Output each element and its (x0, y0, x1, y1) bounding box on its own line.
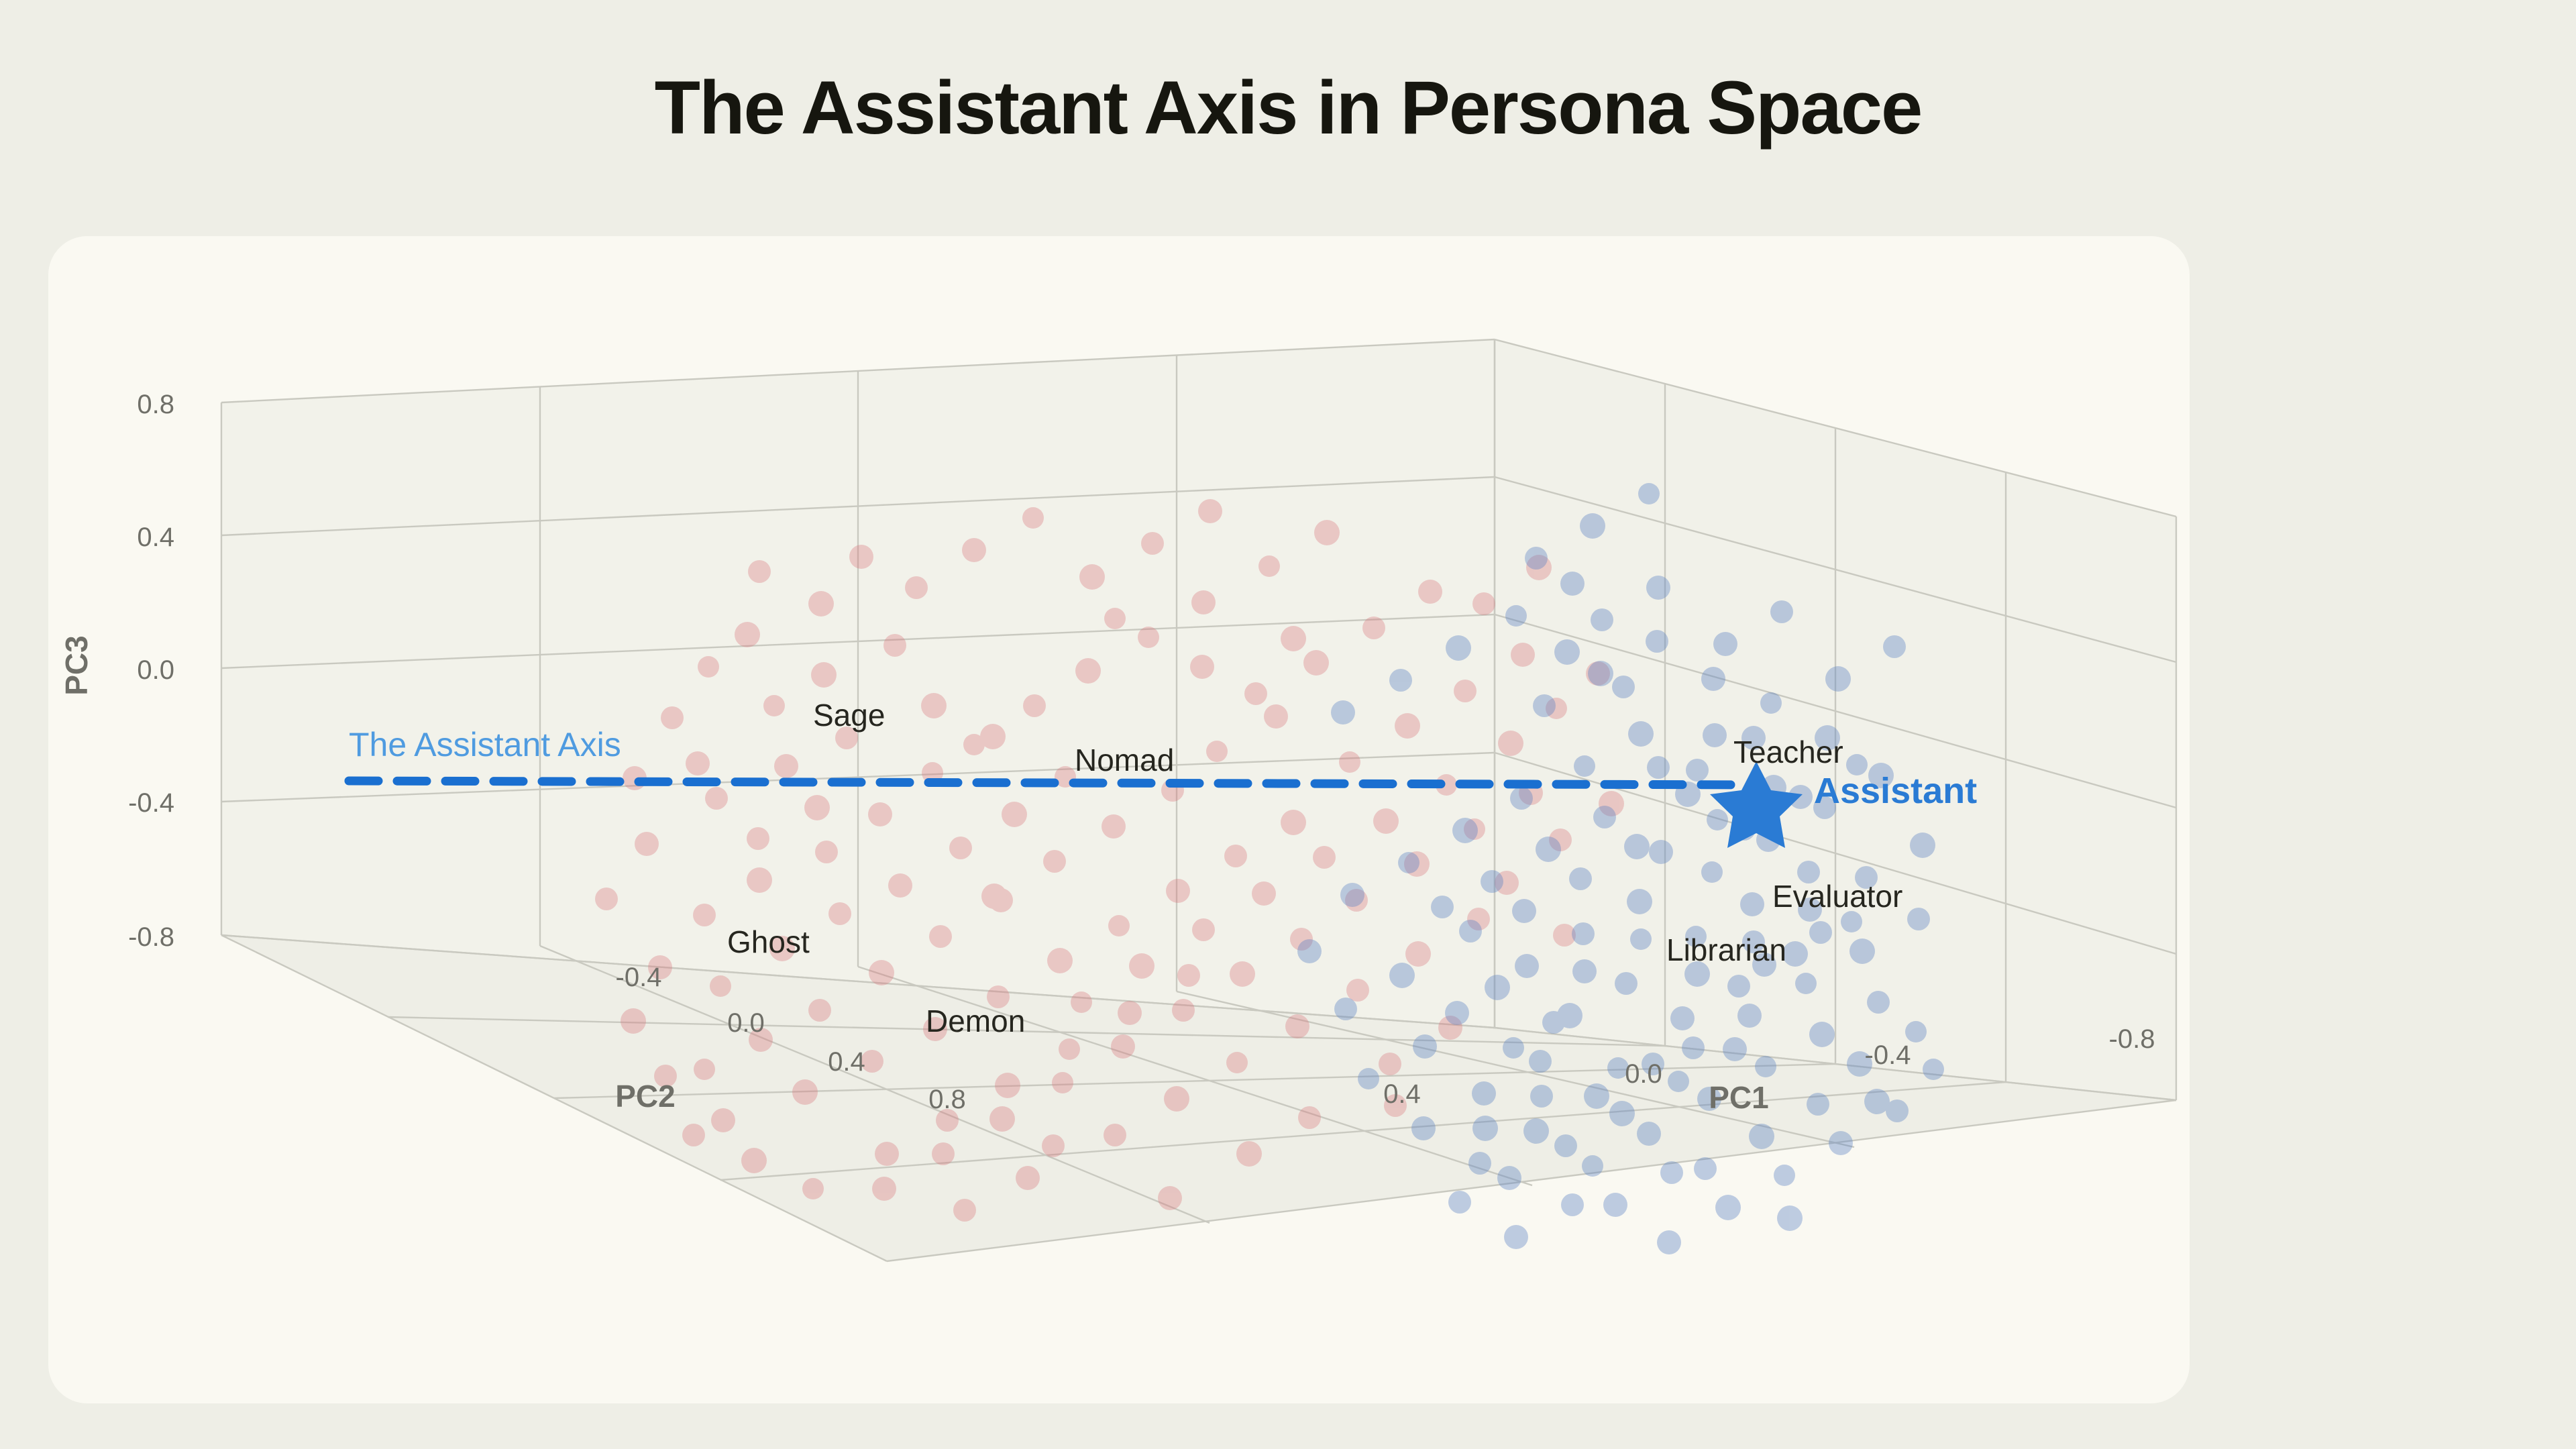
data-point (774, 754, 798, 778)
data-point (1079, 564, 1105, 590)
data-point (1536, 837, 1561, 862)
data-point (1525, 547, 1548, 570)
data-point (929, 925, 952, 948)
data-point (815, 841, 838, 863)
data-point (1512, 899, 1536, 923)
data-point (1749, 1124, 1774, 1149)
data-point (1905, 1021, 1927, 1042)
data-point (1737, 1004, 1762, 1028)
data-point (1630, 928, 1652, 950)
persona-label-nomad: Nomad (1075, 743, 1174, 777)
data-point (1264, 704, 1288, 729)
data-point (989, 1106, 1015, 1132)
data-point (1646, 630, 1668, 653)
data-point (1047, 948, 1073, 973)
data-point (1448, 1191, 1471, 1214)
data-point (1379, 1053, 1401, 1075)
data-point (1172, 999, 1195, 1022)
data-point (1770, 600, 1793, 623)
data-point (1670, 1006, 1695, 1030)
data-point (808, 999, 831, 1022)
data-point (1572, 922, 1595, 945)
pc2-tick-2: 0.4 (828, 1047, 865, 1077)
data-point (1554, 1134, 1577, 1157)
data-point (1615, 972, 1638, 995)
pc3-tick-4: -0.8 (128, 922, 174, 952)
data-point (1638, 483, 1660, 504)
data-point (686, 751, 710, 775)
pc1-axis-title: PC1 (1709, 1080, 1768, 1115)
data-point (1777, 1205, 1803, 1231)
data-point (1230, 961, 1255, 987)
data-point (1603, 1193, 1627, 1217)
pc1-tick-3: -0.8 (2109, 1024, 2155, 1054)
data-point (1849, 938, 1875, 964)
data-point (1141, 532, 1164, 555)
data-point (1740, 892, 1764, 916)
data-point (1825, 666, 1851, 692)
data-point (1715, 1195, 1741, 1220)
data-point (1191, 590, 1216, 614)
data-point (1569, 867, 1592, 890)
data-point (1504, 1225, 1528, 1249)
data-point (1303, 650, 1329, 676)
data-point (1446, 635, 1471, 661)
data-point (1809, 1022, 1835, 1047)
data-point (1413, 1034, 1437, 1059)
data-point (1104, 1124, 1126, 1146)
data-point (1795, 973, 1817, 994)
data-point (1431, 896, 1454, 918)
data-point (1657, 1230, 1681, 1254)
data-point (1627, 889, 1652, 914)
data-point (1588, 661, 1613, 686)
data-point (921, 693, 947, 718)
data-point (1158, 1186, 1182, 1210)
data-point (698, 656, 719, 678)
data-point (808, 591, 834, 616)
data-point (1760, 692, 1782, 714)
data-point (1472, 592, 1495, 615)
data-point (1703, 723, 1727, 747)
data-point (868, 802, 892, 826)
persona-label-librarian: Librarian (1666, 932, 1786, 967)
data-point (875, 1142, 899, 1166)
data-point (1043, 850, 1066, 873)
data-point (1807, 1093, 1829, 1116)
data-point (1923, 1059, 1944, 1080)
data-point (1102, 814, 1126, 839)
pc3-tick-0: 0.8 (137, 390, 174, 419)
data-point (747, 827, 769, 850)
data-point (1281, 810, 1306, 835)
data-point (1530, 1085, 1553, 1108)
data-point (1481, 870, 1503, 893)
data-point (1395, 713, 1420, 739)
data-point (1285, 1014, 1309, 1038)
data-point (1108, 915, 1130, 936)
persona-label-sage: Sage (813, 698, 885, 733)
data-point (1809, 921, 1832, 944)
data-point (1609, 1101, 1635, 1126)
data-point (705, 787, 728, 810)
data-point (595, 888, 618, 910)
data-point (1138, 627, 1159, 648)
data-point (1472, 1081, 1496, 1106)
data-point (1646, 576, 1670, 600)
data-point (1668, 1071, 1689, 1092)
data-point (1164, 1086, 1189, 1112)
data-point (1071, 991, 1092, 1013)
data-point (888, 873, 912, 898)
data-point (1298, 1106, 1321, 1129)
data-point (1707, 809, 1728, 830)
data-point (1612, 676, 1635, 698)
data-point (693, 904, 716, 926)
data-point (1533, 694, 1556, 717)
data-point (1398, 852, 1419, 873)
data-point (1111, 1034, 1135, 1059)
data-point (804, 795, 830, 820)
data-point (1907, 908, 1930, 930)
persona-label-teacher: Teacher (1733, 735, 1843, 769)
data-point (981, 883, 1007, 909)
data-point (869, 960, 894, 985)
data-point (1023, 694, 1046, 717)
data-point (1226, 1052, 1248, 1073)
data-point (1511, 643, 1535, 667)
pc3-axis-title: PC3 (59, 635, 94, 695)
data-point (1445, 1001, 1469, 1025)
data-point (1340, 883, 1364, 907)
data-point (980, 724, 1006, 749)
data-point (872, 1177, 896, 1201)
data-point (995, 1073, 1020, 1098)
data-point (1580, 513, 1605, 539)
data-point (1727, 975, 1750, 998)
data-point (1682, 1036, 1705, 1059)
persona-label-ghost: Ghost (727, 924, 810, 959)
data-point (1059, 1038, 1080, 1060)
data-point (1497, 1166, 1521, 1190)
data-point (1572, 959, 1597, 983)
data-point (1206, 741, 1228, 762)
data-point (1339, 751, 1360, 773)
data-point (802, 1178, 824, 1199)
data-point (661, 706, 684, 729)
pc2-tick-1: 0.0 (727, 1008, 765, 1038)
data-point (1452, 818, 1478, 843)
data-point (1867, 991, 1890, 1014)
data-point (1002, 802, 1027, 827)
data-point (1774, 1165, 1795, 1186)
pc2-tick-3: 0.8 (928, 1085, 966, 1114)
data-point (1649, 840, 1673, 864)
data-point (1454, 680, 1477, 702)
data-point (1510, 787, 1533, 810)
data-point (1554, 639, 1580, 665)
pc3-tick-1: 0.4 (137, 523, 174, 552)
data-point (1334, 998, 1357, 1020)
data-point (1584, 1083, 1609, 1109)
data-point (1591, 608, 1613, 631)
pc2-axis-title: PC2 (615, 1079, 675, 1114)
data-point (747, 867, 772, 893)
data-point (1660, 1161, 1683, 1184)
data-point (1637, 1122, 1661, 1146)
data-point (1313, 846, 1336, 869)
data-point (1529, 1050, 1552, 1073)
data-point (1224, 845, 1247, 867)
data-point (1252, 881, 1276, 906)
data-point (1281, 626, 1306, 651)
data-point (1052, 1072, 1073, 1093)
data-point (1910, 833, 1935, 858)
data-point (1314, 520, 1340, 545)
data-point (711, 1108, 735, 1132)
data-point (1411, 1116, 1436, 1140)
data-point (1331, 700, 1355, 724)
data-point (1192, 918, 1215, 941)
data-point (1190, 655, 1214, 679)
data-point (1503, 1037, 1524, 1059)
persona-label-evaluator: Evaluator (1772, 879, 1902, 914)
pc3-tick-3: -0.4 (128, 788, 174, 818)
data-point (1166, 879, 1190, 903)
data-point (1593, 806, 1616, 828)
data-point (1523, 1118, 1549, 1144)
data-point (1694, 1157, 1717, 1180)
data-point (1515, 954, 1539, 978)
data-point (1405, 941, 1431, 967)
data-point (735, 622, 760, 647)
data-point (1841, 911, 1862, 932)
data-point (1560, 572, 1585, 596)
data-point (1628, 721, 1654, 747)
data-point (635, 832, 659, 856)
data-point (1244, 682, 1267, 705)
data-point (1129, 953, 1155, 979)
data-point (1883, 635, 1906, 658)
scatter-plot-3d[interactable]: The Assistant Axis Assistant Sage Nomad … (48, 236, 2190, 1403)
data-point (1104, 608, 1126, 629)
data-point (828, 902, 851, 925)
data-point (953, 1199, 976, 1222)
chart-card: The Assistant Axis Assistant Sage Nomad … (48, 236, 2190, 1403)
data-point (932, 1142, 955, 1165)
pc2-tick-0: -0.4 (616, 963, 662, 992)
data-point (1198, 499, 1222, 523)
data-point (1505, 605, 1527, 627)
data-point (1358, 1068, 1379, 1089)
data-point (1561, 1193, 1584, 1216)
data-point (1755, 1056, 1776, 1077)
data-point (1373, 808, 1399, 834)
pc1-tick-0: 0.4 (1383, 1079, 1421, 1109)
data-point (682, 1124, 705, 1146)
data-point (1075, 658, 1101, 684)
data-point (763, 695, 785, 716)
data-point (1582, 1155, 1603, 1177)
data-point (621, 1008, 646, 1034)
data-point (741, 1148, 767, 1173)
data-point (1418, 580, 1442, 604)
data-point (1118, 1001, 1142, 1025)
data-point (1574, 755, 1595, 777)
data-point (962, 538, 986, 562)
assistant-axis-annotation: The Assistant Axis (349, 726, 621, 763)
data-point (1498, 731, 1523, 756)
data-point (1258, 555, 1280, 577)
plot-svg: The Assistant Axis Assistant Sage Nomad … (48, 236, 2190, 1403)
data-point (849, 545, 873, 569)
data-point (1297, 939, 1322, 963)
data-point (811, 662, 837, 688)
assistant-label: Assistant (1814, 771, 1977, 811)
data-point (792, 1079, 818, 1105)
data-point (1624, 834, 1650, 859)
pc3-tick-labels: 0.8 0.4 0.0 -0.4 -0.8 PC3 (59, 390, 174, 952)
data-point (905, 576, 928, 599)
pc3-tick-2: 0.0 (137, 655, 174, 685)
pc1-tick-2: -0.4 (1865, 1040, 1911, 1070)
data-point (1686, 759, 1709, 782)
persona-label-demon: Demon (926, 1004, 1025, 1038)
data-point (1472, 1116, 1498, 1141)
data-point (1459, 920, 1482, 943)
data-point (1468, 1152, 1491, 1175)
pc1-tick-1: 0.0 (1625, 1059, 1662, 1089)
data-point (1177, 964, 1200, 987)
data-point (1022, 507, 1044, 529)
data-point (694, 1059, 715, 1080)
data-point (1389, 669, 1412, 692)
data-point (1713, 632, 1737, 656)
data-point (1647, 756, 1670, 779)
data-point (1829, 1131, 1853, 1155)
data-point (1389, 963, 1415, 988)
data-point (748, 560, 771, 583)
data-point (1723, 1037, 1747, 1061)
data-point (1042, 1134, 1065, 1157)
data-point (1236, 1141, 1262, 1167)
data-point (1485, 975, 1510, 1000)
data-point (1362, 616, 1385, 639)
data-point (883, 634, 906, 657)
data-point (1864, 1089, 1890, 1114)
data-point (949, 837, 972, 859)
data-point (1701, 861, 1723, 883)
data-point (710, 975, 731, 997)
data-point (1542, 1011, 1565, 1034)
page-title: The Assistant Axis in Persona Space (0, 64, 2576, 151)
data-point (1701, 667, 1725, 691)
data-point (1016, 1166, 1040, 1190)
data-point (1346, 979, 1369, 1002)
